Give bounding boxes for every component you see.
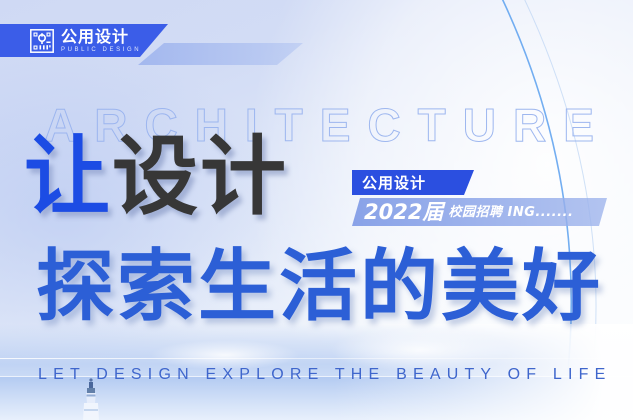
brand-name-block: 公用设计 PUBLIC DESIGN <box>61 29 141 53</box>
tagline-divider <box>0 358 633 359</box>
recruitment-badge: 公用设计 2022届 校园招聘 ING....... <box>352 170 607 226</box>
recruitment-poster: 公用设计 PUBLIC DESIGN ARCHITECTURE 让设计 公用设计… <box>0 0 633 420</box>
headline-rest-chars: 设计 <box>112 127 288 227</box>
headline-line-2: 探索生活的美好 <box>36 248 603 326</box>
badge-campaign-bar: 2022届 校园招聘 ING....... <box>352 198 607 226</box>
badge-campaign-label: 校园招聘 ING....... <box>448 206 573 219</box>
brand-name-cn: 公用设计 <box>61 29 141 45</box>
public-design-emblem-icon <box>30 29 54 53</box>
tagline-text: LET DESIGN EXPLORE THE BEAUTY OF LIFE <box>38 366 612 384</box>
headline-accent-char: 让 <box>24 127 112 227</box>
brand-banner-bar: 公用设计 PUBLIC DESIGN <box>0 24 168 57</box>
banner-tail-decoration <box>138 43 303 65</box>
badge-company-bar: 公用设计 <box>352 170 474 195</box>
headline-line-1: 让设计 <box>24 134 288 220</box>
brand-name-en: PUBLIC DESIGN <box>61 47 141 53</box>
badge-company-label: 公用设计 <box>362 172 426 193</box>
badge-year-label: 2022届 <box>364 202 443 223</box>
